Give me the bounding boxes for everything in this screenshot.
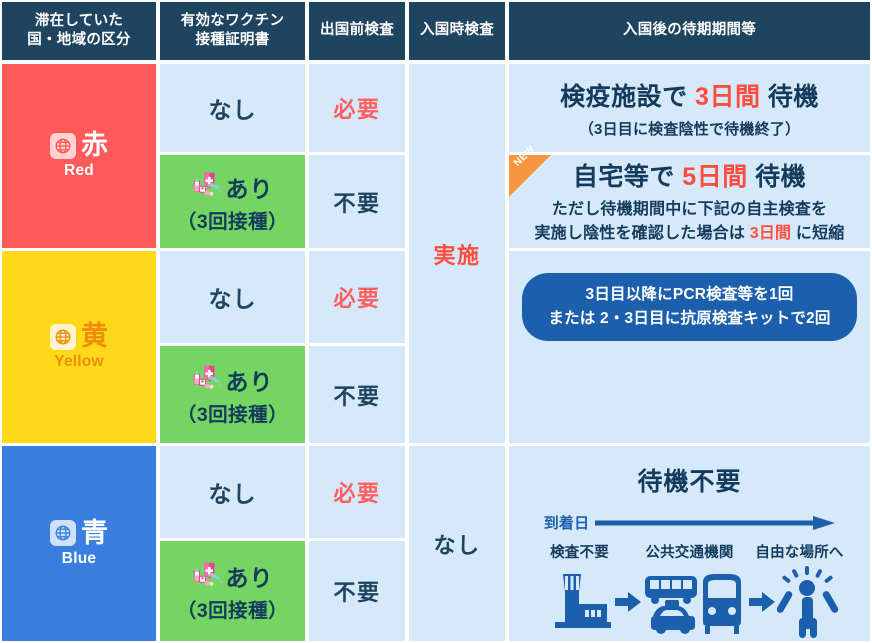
header-line1: 入国時検査 — [420, 21, 494, 40]
timeline-step-label-2: 自由な場所へ — [745, 541, 855, 562]
quarantine-rules-table: 滞在していた 国・地域の区分 有効なワクチン 接種証明書 出国前検査 入国時検査… — [0, 0, 872, 643]
home-sub2-post: に短縮 — [796, 225, 845, 242]
selftest-pill-line2: または 2・3日目に抗原検査キットで2回 — [548, 307, 830, 331]
celebrating-person-icon — [777, 566, 839, 638]
on-arrival-value: 実施 — [433, 238, 480, 270]
header-line2: 国・地域の区分 — [27, 31, 131, 50]
home-main-post: 待機 — [755, 163, 806, 191]
pre-departure-cell-blue-yes: 不要 — [309, 541, 405, 641]
pre-departure-value: 必要 — [333, 281, 380, 313]
region-romaji: Blue — [62, 550, 96, 568]
region-cell-yellow: 黄 Yellow — [2, 251, 156, 443]
on-arrival-cell-blue: なし — [409, 446, 505, 641]
vaccine-shield-syringe-icon — [192, 561, 222, 592]
globe-icon — [50, 520, 76, 546]
region-romaji: Red — [64, 162, 94, 180]
selftest-pill: 3日目以降にPCR検査等を1回 または 2・3日目に抗原検査キットで2回 — [522, 273, 856, 341]
region-cell-blue: 青 Blue — [2, 446, 156, 641]
facility-main-line: 検疫施設で 3日間 待機 — [560, 77, 819, 113]
vaccine-none-label: なし — [209, 280, 257, 314]
facility-main-highlight: 3日間 — [695, 83, 760, 111]
header-line1: 有効なワクチン — [181, 12, 285, 31]
pre-departure-cell-blue-none: 必要 — [309, 446, 405, 538]
home-sub-line1: ただし待機期間中に下記の自主検査を — [552, 198, 827, 222]
facility-main-post: 待機 — [768, 83, 819, 111]
timeline-step-label-0: 検査不要 — [525, 541, 635, 562]
header-on-arrival-test: 入国時検査 — [409, 2, 505, 60]
region-kanji: 赤 — [81, 132, 108, 159]
timeline-arrow-icon — [595, 515, 835, 531]
header-line1: 出国前検査 — [320, 21, 394, 40]
timeline-pictograms — [520, 566, 860, 638]
header-line1: 滞在していた — [35, 12, 123, 31]
airport-terminal-icon — [541, 568, 613, 636]
vaccine-yes-label: あり — [226, 363, 274, 397]
vaccine-shield-syringe-icon — [192, 171, 222, 202]
vaccine-cell-red-none: なし — [160, 64, 305, 152]
arrow-right-icon — [615, 591, 641, 613]
pre-departure-value: 不要 — [333, 575, 380, 607]
timeline-step-label-1: 公共交通機関 — [635, 541, 745, 562]
vaccine-yes-sublabel: （3回接種） — [177, 205, 288, 234]
header-valid-vaccination-certificate: 有効なワクチン 接種証明書 — [160, 2, 305, 60]
vaccine-yes-sublabel: （3回接種） — [177, 594, 288, 623]
region-romaji: Yellow — [54, 353, 103, 371]
vaccine-cell-yellow-yes: あり （3回接種） — [160, 346, 305, 443]
header-country-region-category: 滞在していた 国・地域の区分 — [2, 2, 156, 60]
region-cell-red: 赤 Red — [2, 64, 156, 248]
post-entry-selftest-pill-block: 3日目以降にPCR検査等を1回 または 2・3日目に抗原検査キットで2回 — [509, 251, 870, 443]
header-post-entry-waiting-period: 入国後の待期期間等 — [509, 2, 870, 60]
region-kanji: 黄 — [81, 323, 108, 350]
header-line2: 接種証明書 — [196, 31, 270, 50]
globe-icon — [50, 324, 76, 350]
arrival-timeline: 到着日 — [544, 512, 836, 533]
pre-departure-cell-yellow-none: 必要 — [309, 251, 405, 343]
pre-departure-cell-red-none: 必要 — [309, 64, 405, 152]
no-wait-title: 待機不要 — [637, 462, 741, 498]
header-pre-departure-test: 出国前検査 — [309, 2, 405, 60]
vaccine-cell-red-yes: あり （3回接種） — [160, 155, 305, 248]
home-sub-line2: 実施し陰性を確認した場合は 3日間 に短縮 — [534, 222, 844, 246]
home-main-line: 自宅等で 5日間 待機 — [573, 157, 806, 193]
vaccine-shield-syringe-icon — [192, 364, 222, 395]
vaccine-yes-label: あり — [226, 170, 274, 204]
timeline-arrival-label: 到着日 — [544, 512, 590, 533]
header-line1: 入国後の待期期間等 — [623, 21, 756, 40]
post-entry-facility-block: 検疫施設で 3日間 待機 （3日目に検査陰性で待機終了） — [509, 64, 870, 152]
on-arrival-cell-red-yellow: 実施 — [409, 64, 505, 443]
pre-departure-value: 不要 — [333, 186, 380, 218]
timeline-step-labels: 検査不要 公共交通機関 自由な場所へ — [525, 541, 855, 562]
vaccine-cell-blue-yes: あり （3回接種） — [160, 541, 305, 641]
region-kanji: 青 — [81, 520, 108, 547]
home-sub2-pre: 実施し陰性を確認した場合は — [534, 225, 745, 242]
post-entry-home-block: NEW 自宅等で 5日間 待機 ただし待機期間中に下記の自主検査を 実施し陰性を… — [509, 155, 870, 248]
pre-departure-value: 不要 — [333, 379, 380, 411]
home-sub2-highlight: 3日間 — [750, 225, 792, 242]
globe-icon — [50, 133, 76, 159]
public-transport-icon — [643, 568, 747, 636]
home-main-highlight: 5日間 — [682, 163, 747, 191]
facility-main-pre: 検疫施設で — [560, 83, 688, 111]
pre-departure-value: 必要 — [333, 92, 380, 124]
facility-sub-line: （3日目に検査陰性で待機終了） — [579, 118, 800, 139]
post-entry-no-wait-block: 待機不要 到着日 検査不要 公共交通機関 自由な場所へ — [509, 446, 870, 641]
vaccine-cell-blue-none: なし — [160, 446, 305, 538]
pre-departure-value: 必要 — [333, 476, 380, 508]
vaccine-yes-label: あり — [226, 559, 274, 593]
home-main-pre: 自宅等で — [573, 163, 675, 191]
pre-departure-cell-yellow-yes: 不要 — [309, 346, 405, 443]
selftest-pill-line1: 3日目以降にPCR検査等を1回 — [548, 283, 830, 307]
vaccine-cell-yellow-none: なし — [160, 251, 305, 343]
on-arrival-value: なし — [433, 528, 480, 560]
arrow-right-icon — [749, 591, 775, 613]
vaccine-none-label: なし — [209, 475, 257, 509]
vaccine-yes-sublabel: （3回接種） — [177, 398, 288, 427]
pre-departure-cell-red-yes: 不要 — [309, 155, 405, 248]
vaccine-none-label: なし — [209, 91, 257, 125]
